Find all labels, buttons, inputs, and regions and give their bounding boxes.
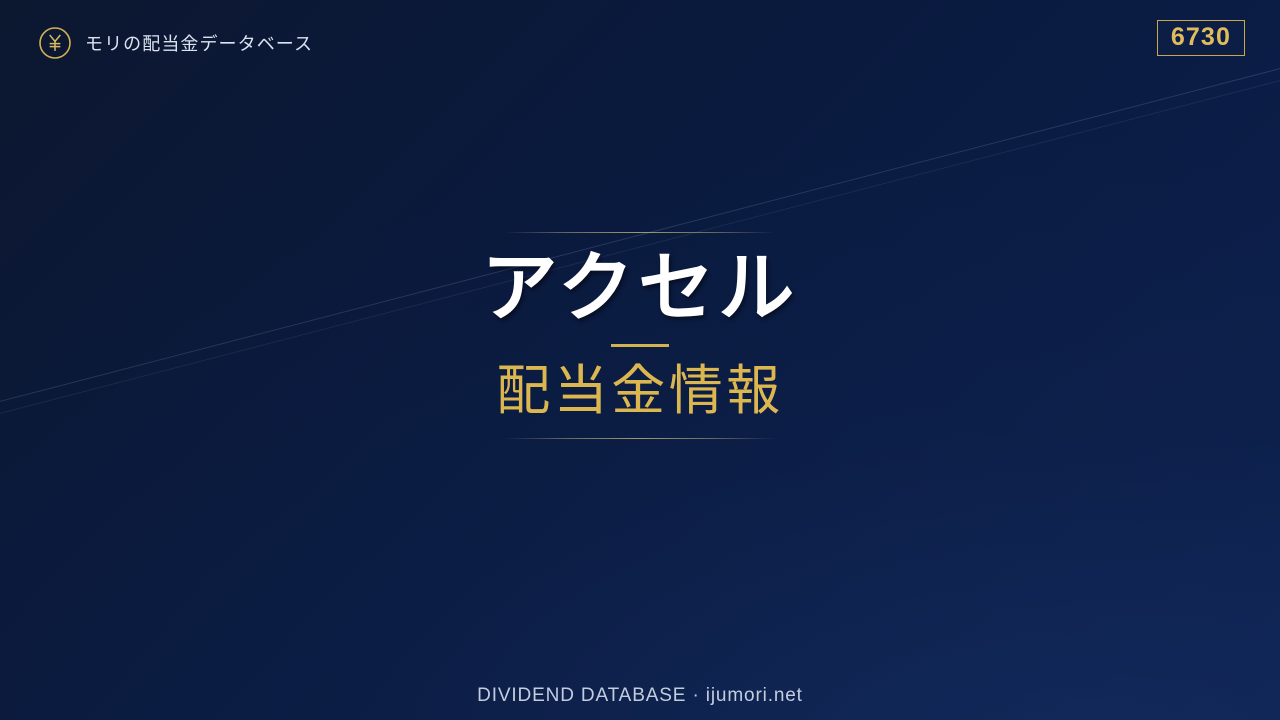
- gold-accent-divider: [611, 344, 669, 347]
- divider-below-subtitle: [504, 438, 776, 439]
- section-label: 配当金情報: [496, 361, 784, 420]
- title-block: アクセル 配当金情報: [0, 232, 1280, 439]
- ticker-code-badge: 6730: [1157, 20, 1245, 56]
- footer-caption: DIVIDEND DATABASE · ijumori.net: [0, 685, 1280, 707]
- yen-circle-icon: [38, 26, 72, 60]
- divider-above-title: [504, 232, 776, 233]
- brand[interactable]: モリの配当金データベース: [38, 26, 313, 60]
- title-slide: モリの配当金データベース 6730 アクセル 配当金情報 DIVIDEND DA…: [0, 0, 1280, 720]
- page-header: モリの配当金データベース 6730: [0, 0, 1280, 90]
- brand-name: モリの配当金データベース: [85, 30, 313, 56]
- company-name: アクセル: [482, 247, 799, 329]
